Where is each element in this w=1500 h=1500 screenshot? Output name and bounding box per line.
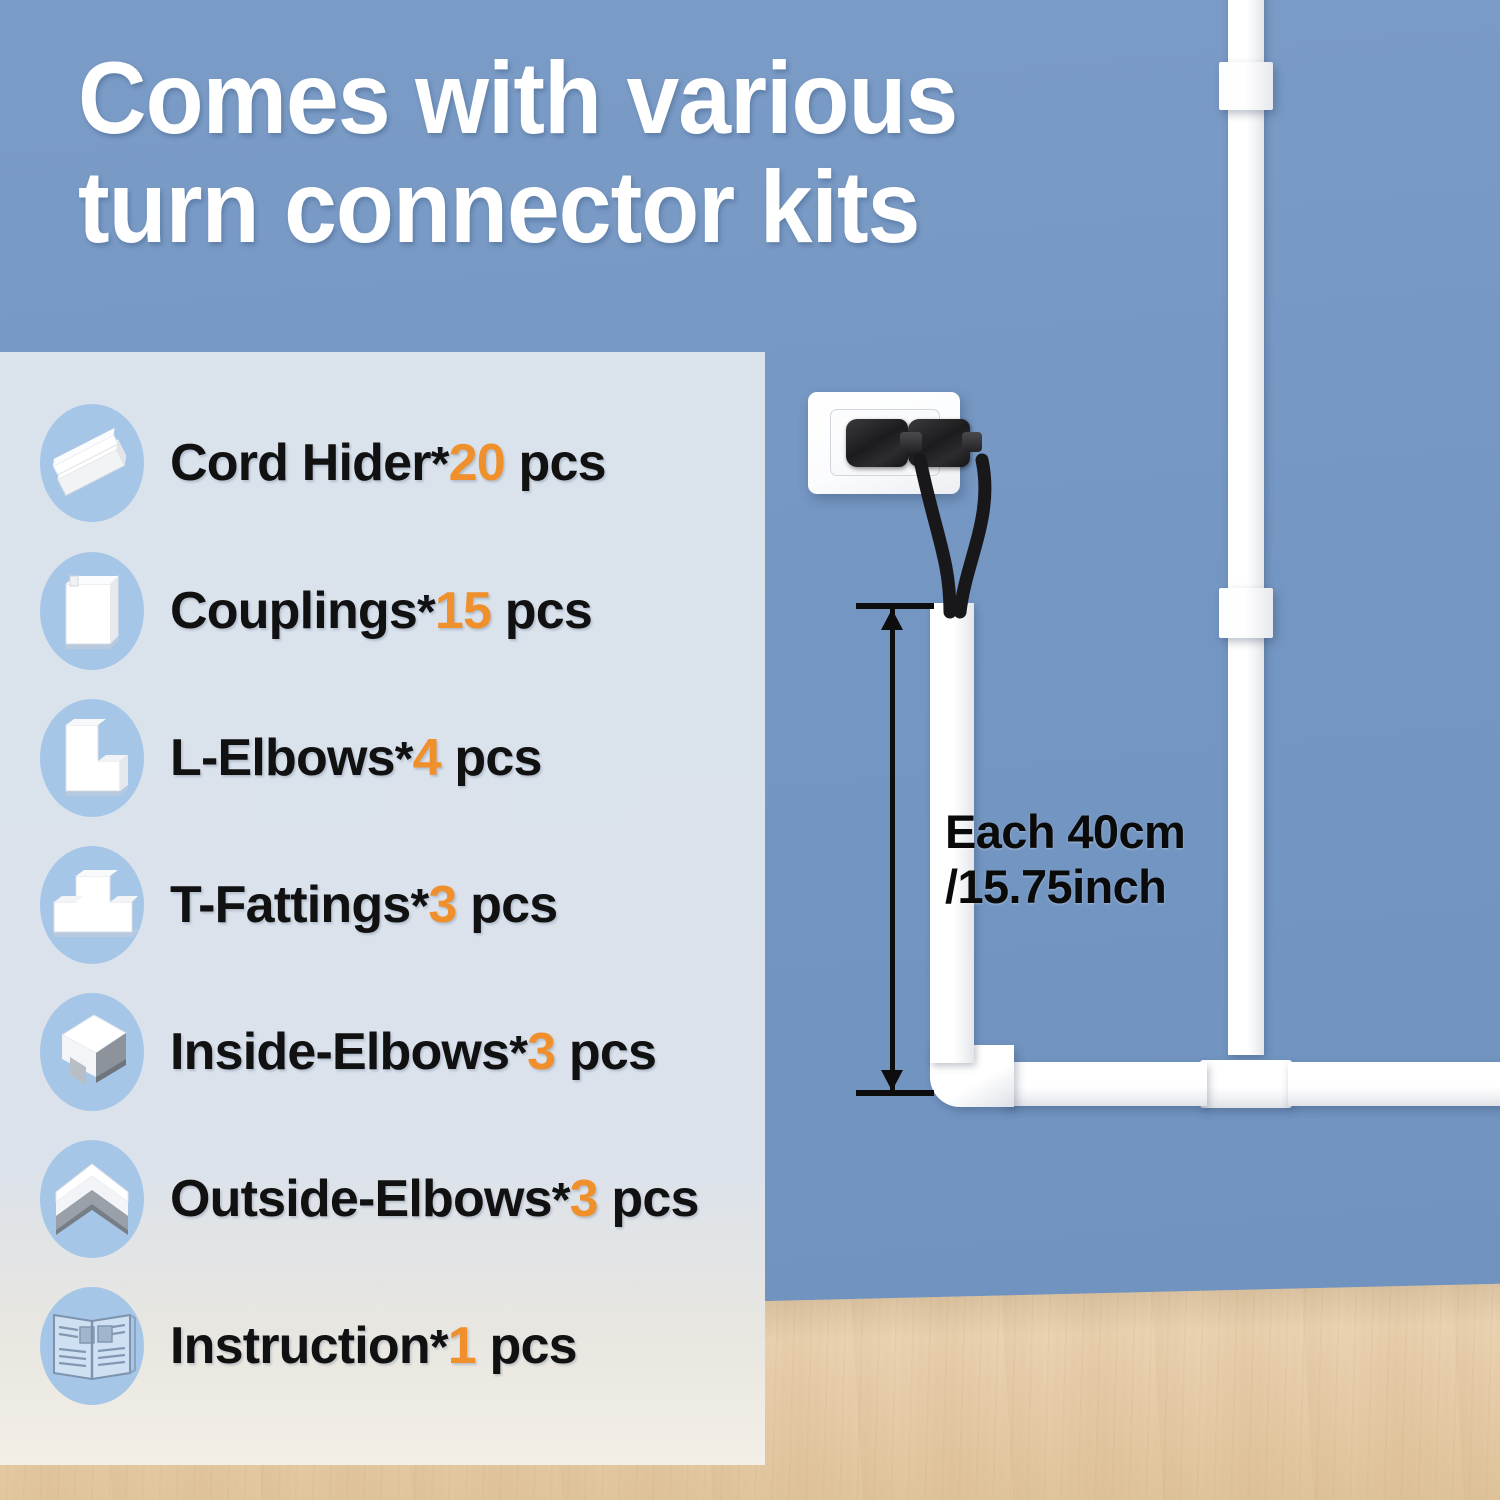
dimension-label-line2: /15.75inch [945,860,1166,913]
item-separator: * [430,1321,448,1374]
coupling-mid-right [1219,588,1273,638]
page-title: Comes with various turn connector kits [78,44,1129,262]
item-qty: 3 [428,876,456,934]
item-qty: 3 [527,1023,555,1081]
list-item: Instruction*1 pcs [40,1286,577,1406]
item-unit: pcs [454,729,541,787]
item-name: Cord Hider [170,434,431,492]
item-separator: * [410,880,428,933]
power-cords [890,440,1030,630]
t-fitting-icon [40,846,144,964]
item-qty: 3 [570,1170,598,1228]
list-item: Cord Hider*20 pcs [40,403,606,523]
dimension-shaft [890,609,895,1091]
page-title-line2: turn connector kits [78,153,1129,262]
t-fitting-junction [1200,1060,1292,1108]
item-unit: pcs [569,1023,656,1081]
item-name: L-Elbows [170,729,395,787]
item-name: Inside-Elbows [170,1023,509,1081]
inside-elbow-icon [40,993,144,1111]
item-unit: pcs [505,582,592,640]
list-item: Inside-Elbows*3 pcs [40,992,656,1112]
instruction-book-icon [40,1287,144,1405]
dimension-arrowhead-bottom [881,1070,903,1091]
coupling-icon [40,552,144,670]
dimension-label: Each 40cm /15.75inch [945,805,1185,914]
item-separator: * [552,1174,570,1227]
list-item: Outside-Elbows*3 pcs [40,1139,699,1259]
item-name: Outside-Elbows [170,1170,552,1228]
item-qty: 20 [449,434,505,492]
list-item-label: Inside-Elbows*3 pcs [170,1022,656,1082]
list-item: L-Elbows*4 pcs [40,698,542,818]
list-item-label: L-Elbows*4 pcs [170,728,542,788]
outside-elbow-icon [40,1140,144,1258]
list-item-label: T-Fattings*3 pcs [170,875,557,935]
item-qty: 4 [413,729,441,787]
raceway-horizontal-right [1288,1062,1500,1106]
item-unit: pcs [490,1317,577,1375]
coupling-top-right [1219,62,1273,110]
raceway-vertical-right [1228,0,1264,1055]
item-unit: pcs [611,1170,698,1228]
item-name: T-Fattings [170,876,410,934]
item-separator: * [417,586,435,639]
dimension-arrowhead-top [881,609,903,630]
item-qty: 15 [435,582,491,640]
item-name: Couplings [170,582,417,640]
item-unit: pcs [470,876,557,934]
dimension-label-line1: Each 40cm [945,805,1185,858]
list-item-label: Cord Hider*20 pcs [170,433,606,493]
l-elbow-icon [40,699,144,817]
item-name: Instruction [170,1317,430,1375]
cord-hider-icon [40,404,144,522]
item-separator: * [395,733,413,786]
list-item-label: Instruction*1 pcs [170,1316,577,1376]
item-separator: * [509,1027,527,1080]
list-item-label: Outside-Elbows*3 pcs [170,1169,699,1229]
list-item: T-Fattings*3 pcs [40,845,557,965]
kit-contents-panel: Cord Hider*20 pcs Couplings*15 pcs [0,352,765,1465]
item-unit: pcs [518,434,605,492]
raceway-horizontal-left [1002,1062,1207,1106]
page-title-line1: Comes with various [78,44,1129,153]
list-item-label: Couplings*15 pcs [170,581,592,641]
list-item: Couplings*15 pcs [40,551,592,671]
item-separator: * [431,438,449,491]
item-qty: 1 [448,1317,476,1375]
